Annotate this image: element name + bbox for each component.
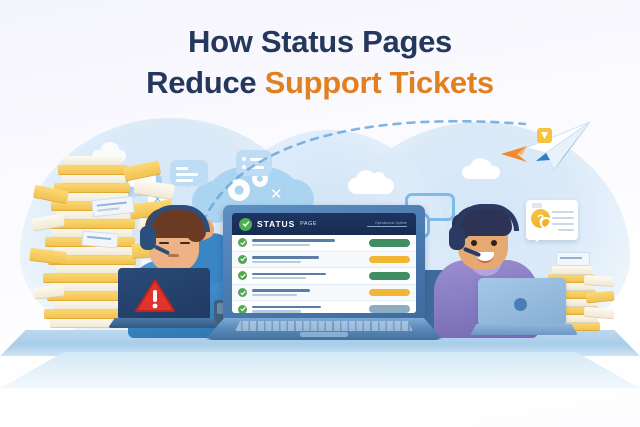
send-badge-icon: [537, 128, 552, 143]
title-line-2-highlight: Support Tickets: [265, 65, 494, 100]
status-page-meta-text: Operational Uptime: [375, 221, 407, 225]
status-page-title: STATUS: [257, 219, 295, 229]
status-row[interactable]: [232, 301, 416, 313]
laptop-lid: STATUS PAGE Operational Uptime: [223, 205, 425, 323]
check-circle-icon: [238, 305, 247, 313]
status-page-screen: STATUS PAGE Operational Uptime: [232, 213, 416, 313]
status-row-label: [252, 239, 364, 246]
right-laptop: [470, 278, 578, 340]
status-badge: [369, 239, 410, 247]
status-row-list: [232, 235, 416, 313]
title-line-2: Reduce Support Tickets: [0, 63, 640, 104]
status-row-label: [252, 306, 364, 313]
laptop-trackpad[interactable]: [300, 332, 348, 337]
check-circle-icon: [238, 255, 247, 264]
status-row-label: [252, 289, 364, 296]
status-page-subtitle: PAGE: [300, 221, 317, 227]
illustration-canvas: ✕ ✕: [0, 0, 640, 427]
laptop-logo: [514, 298, 527, 311]
agent-eye: [471, 240, 477, 246]
page-title: How Status Pages Reduce Support Tickets: [0, 22, 640, 104]
status-badge: [369, 305, 410, 313]
check-circle-icon: [238, 288, 247, 297]
status-page-meta: Operational Uptime: [367, 221, 409, 228]
laptop-base: [205, 318, 443, 340]
title-line-2-prefix: Reduce: [146, 65, 265, 100]
left-laptop: [108, 268, 220, 338]
warning-triangle-icon: [134, 278, 176, 319]
check-circle-icon: [238, 271, 247, 280]
ticket-note: [81, 230, 118, 248]
status-row-label: [252, 256, 364, 263]
help-faq-card: ?: [526, 200, 578, 240]
agent-eye: [491, 240, 497, 246]
agent-mouth: [168, 254, 179, 257]
status-row[interactable]: [232, 285, 416, 302]
paper-plane-blue-icon: [520, 120, 594, 172]
laptop-keyboard[interactable]: [235, 321, 413, 331]
title-line-1: How Status Pages: [0, 22, 640, 63]
status-page-header: STATUS PAGE Operational Uptime: [232, 213, 416, 235]
status-row[interactable]: [232, 252, 416, 269]
status-row[interactable]: [232, 235, 416, 252]
check-circle-icon: [238, 238, 247, 247]
status-row[interactable]: [232, 268, 416, 285]
ticket-note: [556, 252, 590, 266]
status-row-label: [252, 273, 364, 280]
check-circle-icon: [239, 218, 252, 231]
status-badge: [369, 289, 410, 297]
status-badge: [369, 256, 410, 264]
status-badge: [369, 272, 410, 280]
desk-reflection: [0, 352, 640, 404]
question-search-icon: ?: [531, 209, 550, 228]
center-laptop: STATUS PAGE Operational Uptime: [205, 205, 443, 347]
